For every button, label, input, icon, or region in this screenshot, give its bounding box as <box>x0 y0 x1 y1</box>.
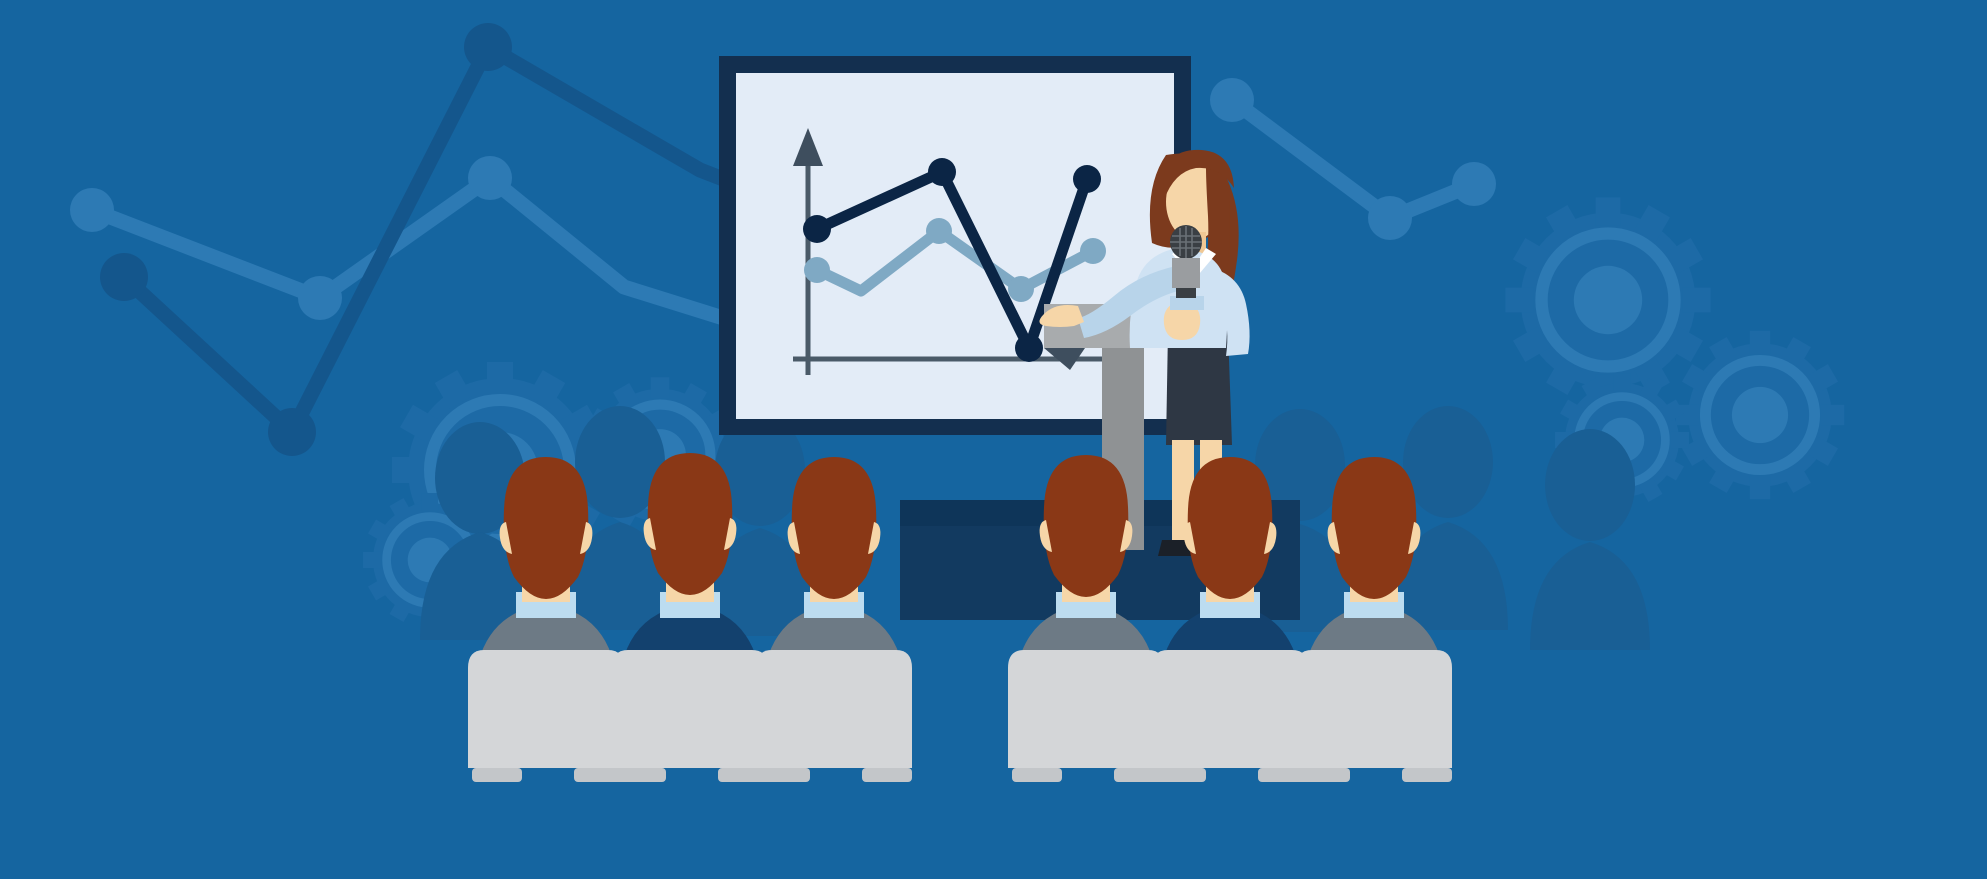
head <box>504 457 589 599</box>
head <box>1332 457 1417 599</box>
audience-member <box>468 457 624 782</box>
chair-base[interactable] <box>862 768 912 782</box>
chair[interactable] <box>1296 650 1452 768</box>
audience-member <box>612 453 768 782</box>
chair-base[interactable] <box>760 768 810 782</box>
chair-base[interactable] <box>616 768 666 782</box>
head <box>1044 455 1129 597</box>
chair[interactable] <box>468 650 624 768</box>
chair-base[interactable] <box>1156 768 1206 782</box>
head <box>648 453 733 595</box>
chair[interactable] <box>1008 650 1164 768</box>
head <box>1188 457 1273 599</box>
audience-member <box>756 457 912 782</box>
audience-member <box>1008 455 1164 782</box>
chair[interactable] <box>612 650 768 768</box>
chair[interactable] <box>756 650 912 768</box>
audience-member <box>1152 457 1308 782</box>
chair-base[interactable] <box>1012 768 1062 782</box>
audience-member <box>1296 457 1452 782</box>
head <box>792 457 877 599</box>
chair-base[interactable] <box>1300 768 1350 782</box>
illustration-canvas <box>0 0 1987 879</box>
audience-front-row-layer <box>0 0 1987 879</box>
chair-base[interactable] <box>472 768 522 782</box>
chair-base[interactable] <box>1402 768 1452 782</box>
chair[interactable] <box>1152 650 1308 768</box>
